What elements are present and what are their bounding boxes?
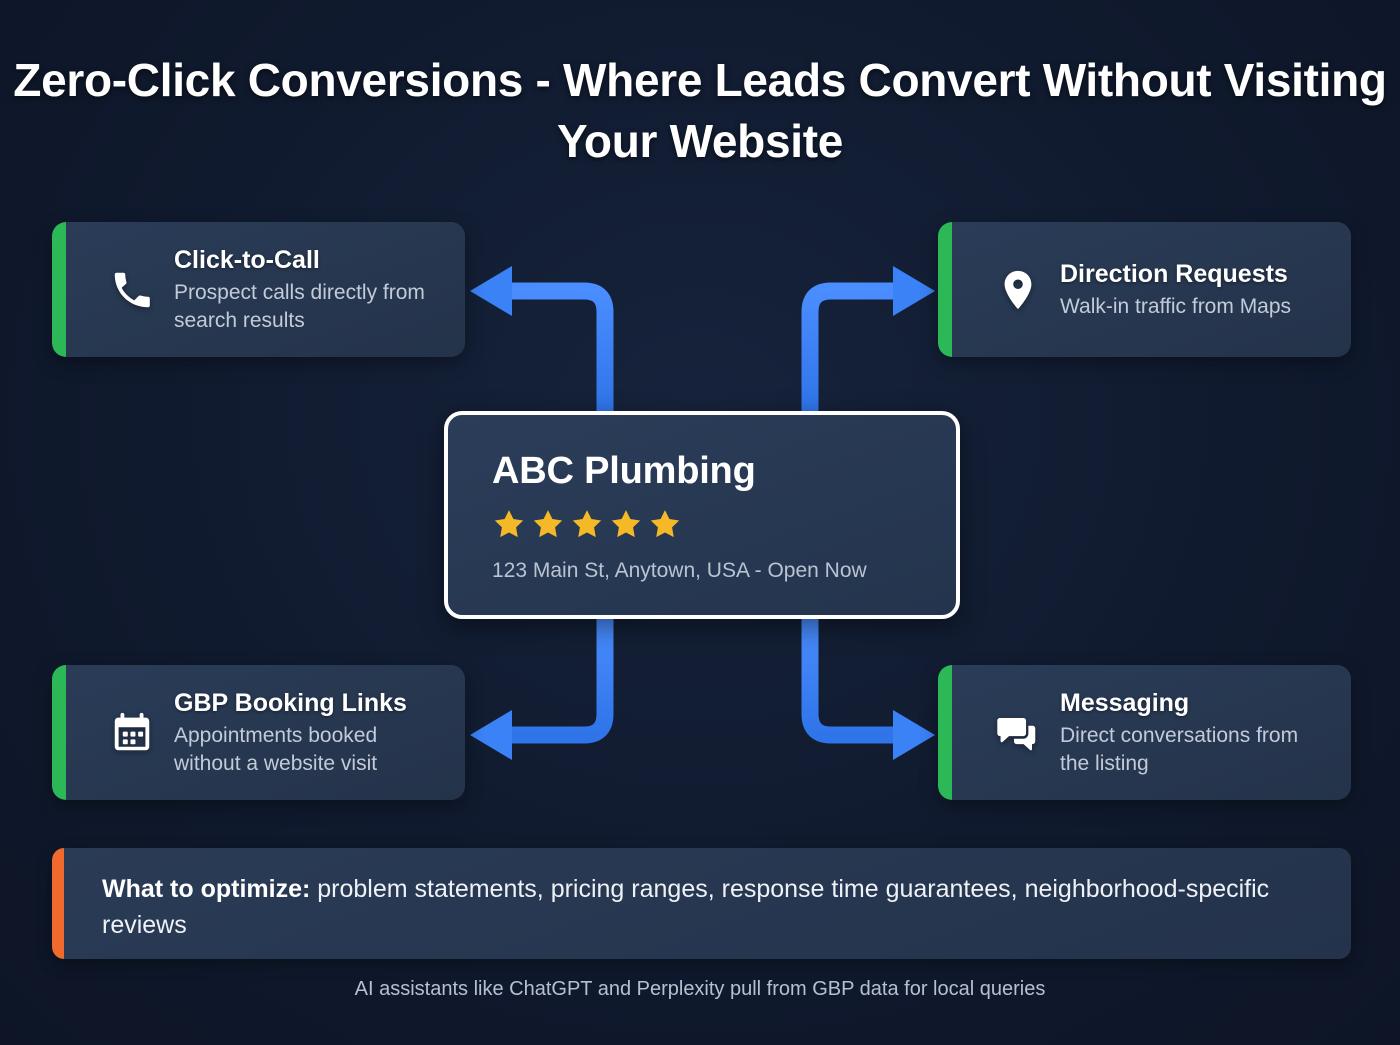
phone-icon	[104, 267, 160, 313]
optimize-callout: What to optimize: problem statements, pr…	[52, 848, 1351, 959]
card-subtitle: Direct conversations from the listing	[1060, 722, 1333, 777]
infographic-canvas: Zero-Click Conversions - Where Leads Con…	[0, 0, 1400, 1045]
card-title: Messaging	[1060, 688, 1333, 718]
card-accent-bar	[938, 665, 952, 800]
connector-center-to-gbp-booking-links	[470, 618, 605, 760]
star-icon	[570, 507, 604, 541]
star-icon	[531, 507, 565, 541]
callout-text: What to optimize: problem statements, pr…	[102, 848, 1321, 943]
card-text-block: Messaging Direct conversations from the …	[1060, 688, 1351, 777]
card-accent-bar	[52, 665, 66, 800]
page-title: Zero-Click Conversions - Where Leads Con…	[0, 50, 1400, 171]
chat-bubbles-icon	[990, 710, 1046, 756]
callout-accent-bar	[52, 848, 64, 959]
calendar-icon	[104, 710, 160, 756]
card-title: Direction Requests	[1060, 259, 1291, 289]
star-icon	[492, 507, 526, 541]
business-details: 123 Main St, Anytown, USA - Open Now	[492, 559, 956, 583]
card-accent-bar	[938, 222, 952, 357]
card-text-block: Click-to-Call Prospect calls directly fr…	[174, 245, 465, 334]
connector-center-to-direction-requests	[810, 266, 935, 412]
star-icon	[609, 507, 643, 541]
connector-center-to-click-to-call	[470, 266, 605, 412]
card-direction-requests[interactable]: Direction Requests Walk-in traffic from …	[938, 222, 1351, 357]
business-name: ABC Plumbing	[492, 451, 956, 493]
card-gbp-booking-links[interactable]: GBP Booking Links Appointments booked wi…	[52, 665, 465, 800]
card-text-block: GBP Booking Links Appointments booked wi…	[174, 688, 465, 777]
card-accent-bar	[52, 222, 66, 357]
footer-note: AI assistants like ChatGPT and Perplexit…	[0, 978, 1400, 1001]
connector-center-to-messaging	[810, 618, 935, 760]
card-title: Click-to-Call	[174, 245, 447, 275]
map-pin-icon	[990, 267, 1046, 313]
callout-label: What to optimize:	[102, 875, 310, 903]
card-click-to-call[interactable]: Click-to-Call Prospect calls directly fr…	[52, 222, 465, 357]
card-messaging[interactable]: Messaging Direct conversations from the …	[938, 665, 1351, 800]
star-rating	[492, 507, 956, 541]
star-icon	[648, 507, 682, 541]
card-subtitle: Walk-in traffic from Maps	[1060, 293, 1291, 321]
card-subtitle: Appointments booked without a website vi…	[174, 722, 447, 777]
card-text-block: Direction Requests Walk-in traffic from …	[1060, 259, 1309, 321]
card-title: GBP Booking Links	[174, 688, 447, 718]
card-subtitle: Prospect calls directly from search resu…	[174, 279, 447, 334]
center-business-listing-card[interactable]: ABC Plumbing 123 Main St, Anytown, USA -…	[444, 411, 960, 619]
